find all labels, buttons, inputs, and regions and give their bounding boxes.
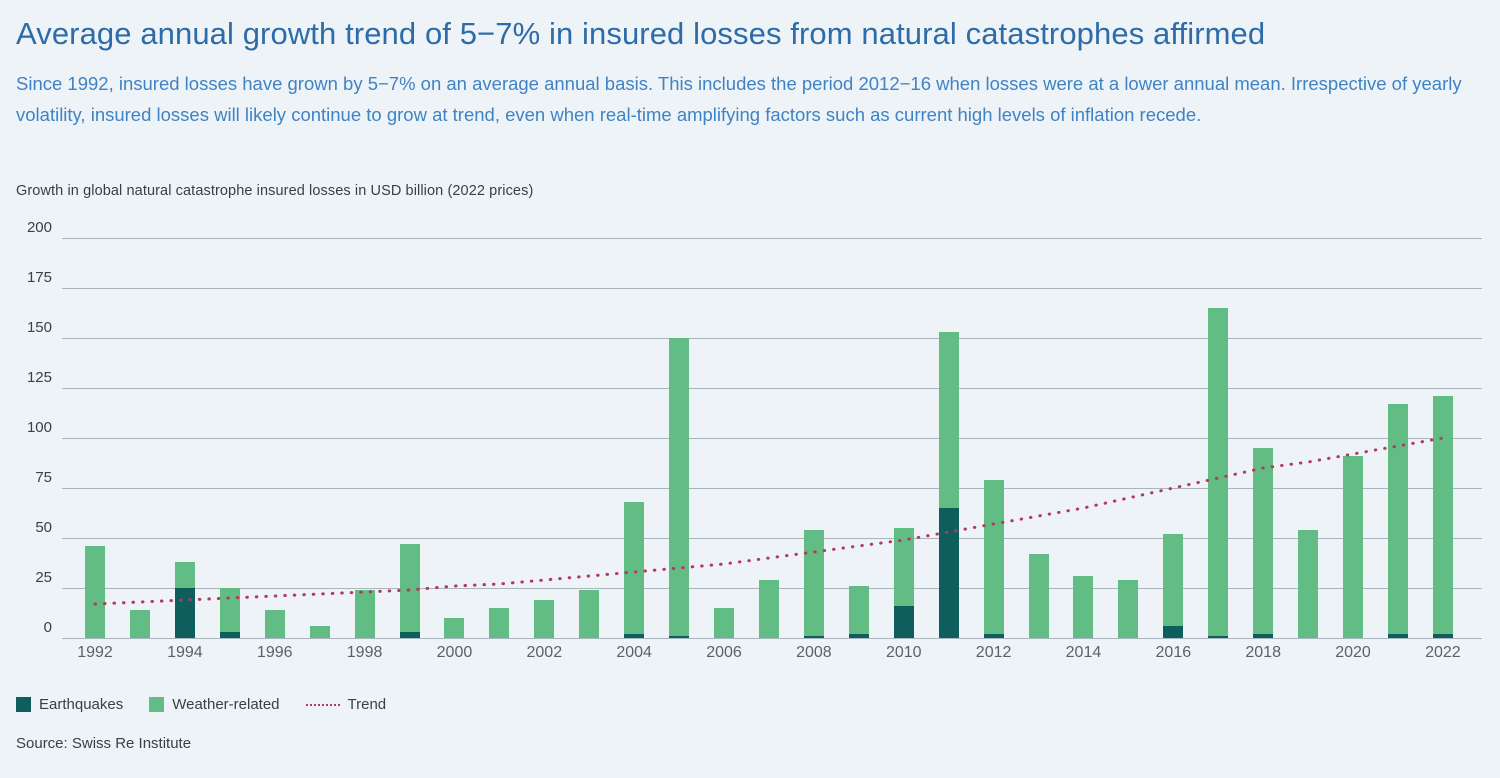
bar-segment-weather bbox=[1029, 554, 1049, 638]
legend-label-weather: Weather-related bbox=[172, 696, 279, 713]
bar-segment-earthquakes bbox=[939, 508, 959, 638]
bar-column-2013[interactable] bbox=[1029, 554, 1049, 638]
x-axis-tick-label: 2006 bbox=[694, 644, 754, 662]
bar-segment-earthquakes bbox=[1388, 634, 1408, 638]
bar-segment-weather bbox=[939, 332, 959, 508]
bar-segment-earthquakes bbox=[400, 632, 420, 638]
x-axis-tick-label: 1998 bbox=[335, 644, 395, 662]
bar-column-2010[interactable] bbox=[894, 528, 914, 638]
bar-column-2001[interactable] bbox=[489, 608, 509, 638]
x-axis-tick-label: 2012 bbox=[964, 644, 1024, 662]
bar-segment-weather bbox=[220, 588, 240, 632]
x-axis-tick-label: 1996 bbox=[245, 644, 305, 662]
bar-column-2017[interactable] bbox=[1208, 308, 1228, 638]
bar-column-2002[interactable] bbox=[534, 600, 554, 638]
bar-column-1992[interactable] bbox=[85, 546, 105, 638]
legend-label-trend: Trend bbox=[348, 696, 387, 713]
bar-column-2006[interactable] bbox=[714, 608, 734, 638]
bar-column-2007[interactable] bbox=[759, 580, 779, 638]
bar-segment-earthquakes bbox=[1208, 636, 1228, 638]
x-axis-tick-label: 2018 bbox=[1233, 644, 1293, 662]
bar-segment-weather bbox=[534, 600, 554, 638]
bar-column-1993[interactable] bbox=[130, 610, 150, 638]
bar-segment-earthquakes bbox=[1253, 634, 1273, 638]
x-axis-tick-label: 2004 bbox=[604, 644, 664, 662]
plot-area: 0255075100125150175200 bbox=[0, 210, 1500, 640]
bar-segment-weather bbox=[489, 608, 509, 638]
page-subtitle: Since 1992, insured losses have grown by… bbox=[16, 68, 1484, 130]
bar-segment-weather bbox=[624, 502, 644, 634]
bar-column-1994[interactable] bbox=[175, 562, 195, 638]
bar-column-2011[interactable] bbox=[939, 332, 959, 638]
bar-segment-weather bbox=[1388, 404, 1408, 634]
bar-segment-weather bbox=[1343, 456, 1363, 638]
bar-segment-weather bbox=[444, 618, 464, 638]
chart-legend: Earthquakes Weather-related Trend bbox=[16, 696, 386, 713]
bar-column-2015[interactable] bbox=[1118, 580, 1138, 638]
legend-item-trend[interactable]: Trend bbox=[306, 696, 387, 713]
bar-segment-weather bbox=[1298, 530, 1318, 638]
x-axis-tick-label: 2002 bbox=[514, 644, 574, 662]
legend-item-earthquakes[interactable]: Earthquakes bbox=[16, 696, 123, 713]
bar-segment-earthquakes bbox=[624, 634, 644, 638]
bar-segment-weather bbox=[400, 544, 420, 632]
bar-segment-weather bbox=[759, 580, 779, 638]
bar-column-1999[interactable] bbox=[400, 544, 420, 638]
bar-column-2003[interactable] bbox=[579, 590, 599, 638]
bar-column-2014[interactable] bbox=[1073, 576, 1093, 638]
bar-segment-earthquakes bbox=[984, 634, 1004, 638]
bar-column-1997[interactable] bbox=[310, 626, 330, 638]
bar-column-2008[interactable] bbox=[804, 530, 824, 638]
bar-segment-weather bbox=[175, 562, 195, 588]
x-axis-tick-label: 2008 bbox=[784, 644, 844, 662]
bar-segment-earthquakes bbox=[849, 634, 869, 638]
bar-segment-earthquakes bbox=[175, 588, 195, 638]
bar-segment-weather bbox=[849, 586, 869, 634]
legend-item-weather[interactable]: Weather-related bbox=[149, 696, 279, 713]
bar-segment-weather bbox=[1433, 396, 1453, 634]
source-note: Source: Swiss Re Institute bbox=[16, 735, 191, 752]
bar-column-2018[interactable] bbox=[1253, 448, 1273, 638]
legend-swatch-weather-icon bbox=[149, 697, 164, 712]
bar-column-2004[interactable] bbox=[624, 502, 644, 638]
x-axis-tick-label: 2022 bbox=[1413, 644, 1473, 662]
bar-segment-weather bbox=[894, 528, 914, 606]
bar-segment-earthquakes bbox=[1163, 626, 1183, 638]
chart-page: Average annual growth trend of 5−7% in i… bbox=[0, 0, 1500, 778]
bar-series bbox=[0, 210, 1500, 640]
bar-column-2016[interactable] bbox=[1163, 534, 1183, 638]
bar-segment-weather bbox=[714, 608, 734, 638]
bar-segment-weather bbox=[579, 590, 599, 638]
bar-column-2000[interactable] bbox=[444, 618, 464, 638]
bar-segment-weather bbox=[984, 480, 1004, 634]
bar-column-1996[interactable] bbox=[265, 610, 285, 638]
x-axis-ticks: 1992199419961998200020022004200620082010… bbox=[0, 644, 1500, 674]
bar-segment-weather bbox=[355, 590, 375, 638]
x-axis-tick-label: 2010 bbox=[874, 644, 934, 662]
bar-segment-weather bbox=[669, 338, 689, 636]
bar-column-2022[interactable] bbox=[1433, 396, 1453, 638]
chart-axis-title: Growth in global natural catastrophe ins… bbox=[16, 183, 533, 199]
x-axis-tick-label: 2014 bbox=[1053, 644, 1113, 662]
bar-column-1995[interactable] bbox=[220, 588, 240, 638]
bar-segment-weather bbox=[1073, 576, 1093, 638]
bar-segment-earthquakes bbox=[669, 636, 689, 638]
bar-segment-weather bbox=[265, 610, 285, 638]
bar-segment-weather bbox=[1253, 448, 1273, 634]
bar-segment-weather bbox=[85, 546, 105, 638]
x-axis-tick-label: 2020 bbox=[1323, 644, 1383, 662]
legend-dashed-line-icon bbox=[306, 704, 340, 706]
bar-column-2021[interactable] bbox=[1388, 404, 1408, 638]
bar-segment-weather bbox=[1163, 534, 1183, 626]
legend-swatch-earthquakes-icon bbox=[16, 697, 31, 712]
bar-segment-earthquakes bbox=[1433, 634, 1453, 638]
bar-column-2009[interactable] bbox=[849, 586, 869, 638]
bar-column-1998[interactable] bbox=[355, 590, 375, 638]
bar-segment-weather bbox=[310, 626, 330, 638]
bar-column-2005[interactable] bbox=[669, 338, 689, 638]
bar-segment-earthquakes bbox=[894, 606, 914, 638]
bar-segment-weather bbox=[1208, 308, 1228, 636]
bar-column-2020[interactable] bbox=[1343, 456, 1363, 638]
x-axis-tick-label: 1992 bbox=[65, 644, 125, 662]
legend-label-earthquakes: Earthquakes bbox=[39, 696, 123, 713]
page-title: Average annual growth trend of 5−7% in i… bbox=[16, 14, 1476, 54]
bar-column-2012[interactable] bbox=[984, 480, 1004, 638]
bar-segment-weather bbox=[130, 610, 150, 638]
bar-segment-weather bbox=[804, 530, 824, 636]
bar-segment-earthquakes bbox=[220, 632, 240, 638]
x-axis-tick-label: 2016 bbox=[1143, 644, 1203, 662]
bar-segment-earthquakes bbox=[804, 636, 824, 638]
x-axis-tick-label: 2000 bbox=[424, 644, 484, 662]
bar-column-2019[interactable] bbox=[1298, 530, 1318, 638]
x-axis-tick-label: 1994 bbox=[155, 644, 215, 662]
bar-segment-weather bbox=[1118, 580, 1138, 638]
